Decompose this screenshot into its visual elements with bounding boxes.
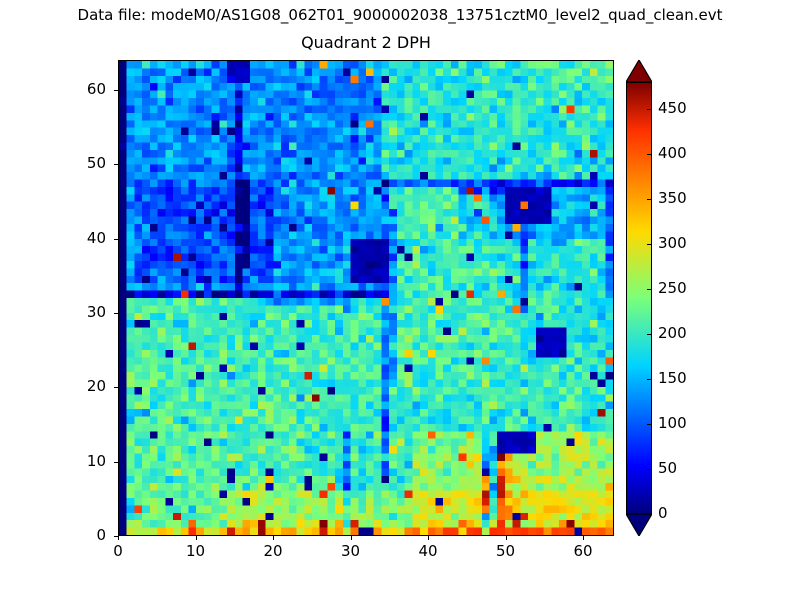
y-axis-tick-label: 60	[46, 81, 106, 98]
y-axis-tick	[114, 536, 118, 537]
y-axis-tick-label: 0	[46, 527, 106, 544]
y-axis-tick-label: 50	[46, 155, 106, 172]
colorbar-tick	[647, 244, 652, 245]
colorbar-tick-label: 400	[658, 145, 687, 162]
colorbar-tick	[647, 289, 652, 290]
x-axis-tick-label: 20	[243, 543, 303, 560]
x-axis-tick	[583, 536, 584, 540]
colorbar-tick	[647, 469, 652, 470]
x-axis-tick	[506, 536, 507, 540]
x-axis-tick-label: 40	[398, 543, 458, 560]
colorbar-tick	[647, 514, 652, 515]
colorbar-tick-label: 450	[658, 100, 687, 117]
colorbar-tick	[647, 334, 652, 335]
colorbar-tick-label: 50	[658, 460, 677, 477]
triangle-down-icon	[626, 514, 652, 536]
colorbar-tick-label: 350	[658, 190, 687, 207]
colorbar-tick-label: 150	[658, 370, 687, 387]
colorbar-tick	[647, 199, 652, 200]
page-title: Quadrant 2 DPH	[118, 33, 614, 53]
x-axis-tick	[118, 536, 119, 540]
y-axis-tick-label: 10	[46, 453, 106, 470]
colorbar-tick-label: 100	[658, 415, 687, 432]
x-axis-tick-label: 30	[321, 543, 381, 560]
y-axis-tick-label: 40	[46, 230, 106, 247]
colorbar-tick	[647, 379, 652, 380]
colorbar-tick	[647, 424, 652, 425]
x-axis-tick	[196, 536, 197, 540]
colorbar-tick	[647, 109, 652, 110]
x-axis-tick	[428, 536, 429, 540]
detector-pixel-heatmap[interactable]	[119, 61, 613, 535]
colorbar-body[interactable]	[626, 82, 652, 514]
y-axis-tick	[114, 164, 118, 165]
colorbar-tick-label: 250	[658, 280, 687, 297]
y-axis-tick	[114, 387, 118, 388]
x-axis-tick	[351, 536, 352, 540]
data-file-label: Data file: modeM0/AS1G08_062T01_90000020…	[0, 5, 800, 25]
x-axis-tick	[273, 536, 274, 540]
y-axis-tick	[114, 90, 118, 91]
x-axis-tick-label: 50	[476, 543, 536, 560]
colorbar[interactable]: 050100150200250300350400450	[626, 60, 652, 536]
x-axis-tick-label: 10	[166, 543, 226, 560]
colorbar-tick	[647, 154, 652, 155]
figure-canvas: Data file: modeM0/AS1G08_062T01_90000020…	[0, 0, 800, 600]
y-axis-tick-label: 20	[46, 378, 106, 395]
triangle-up-icon	[626, 60, 652, 82]
colorbar-tick-label: 200	[658, 325, 687, 342]
colorbar-tick-label: 300	[658, 235, 687, 252]
colorbar-gradient	[627, 83, 651, 513]
heatmap-axes[interactable]	[118, 60, 614, 536]
y-axis-tick-label: 30	[46, 304, 106, 321]
y-axis-tick	[114, 462, 118, 463]
colorbar-tick-label: 0	[658, 505, 668, 522]
y-axis-tick	[114, 313, 118, 314]
x-axis-tick-label: 0	[88, 543, 148, 560]
y-axis-tick	[114, 239, 118, 240]
x-axis-tick-label: 60	[553, 543, 613, 560]
